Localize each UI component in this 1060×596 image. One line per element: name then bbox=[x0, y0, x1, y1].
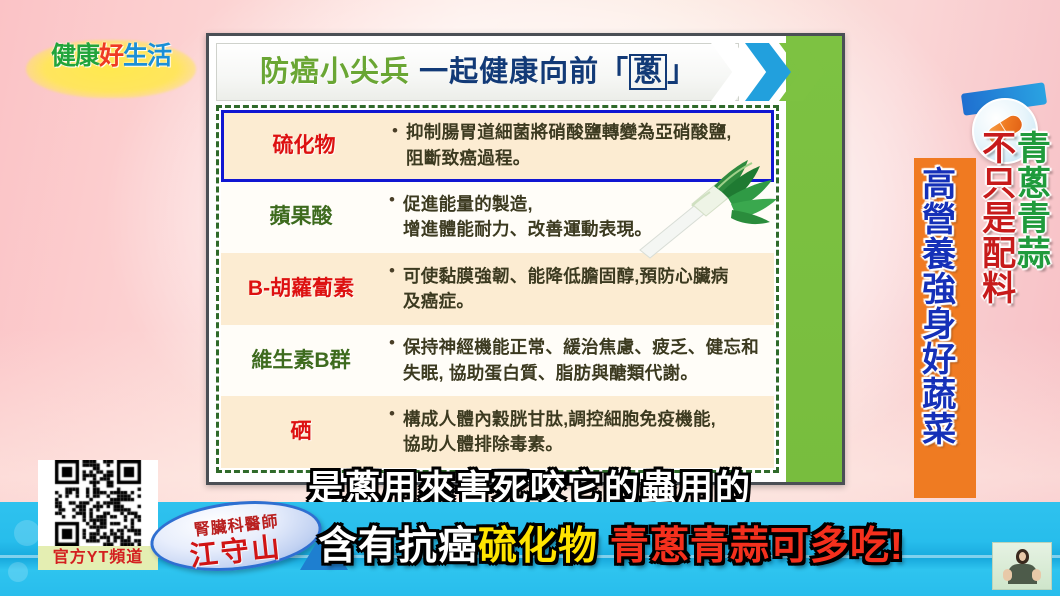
nutrient-row: 硒•構成人體內穀胱甘肽,調控細胞免疫機能,協助人體排除毒素。 bbox=[221, 396, 774, 468]
slide-green-band bbox=[786, 36, 842, 482]
bullet-icon: • bbox=[381, 396, 403, 424]
slide-title-green: 防癌小尖兵 bbox=[260, 56, 410, 88]
caption-right-green: 青蔥青蒜 bbox=[1013, 130, 1048, 305]
nutrient-description: 構成人體內穀胱甘肽,調控細胞免疫機能,協助人體排除毒素。 bbox=[403, 407, 774, 458]
right-vertical-captions: 高營養強身好蔬菜 青蔥青蒜 不只是配料 bbox=[904, 96, 1054, 496]
nutrient-name: 蘋果酸 bbox=[221, 205, 381, 229]
nutrient-name: 硫化物 bbox=[224, 134, 384, 158]
logo-text-part1: 健康 bbox=[51, 42, 99, 70]
slide-title-blue-suffix: 」 bbox=[667, 56, 697, 88]
nutrient-table: 硫化物•抑制腸胃道細菌將硝酸鹽轉變為亞硝酸鹽,阻斷致癌過程。蘋果酸•促進能量的製… bbox=[216, 105, 779, 473]
bullet-icon: • bbox=[381, 325, 403, 353]
nutrient-row: 蘋果酸•促進能量的製造,增進體能耐力、改善運動表現。 bbox=[221, 182, 774, 254]
interpreter-arm-right bbox=[1032, 569, 1041, 581]
channel-logo: 健康好生活 bbox=[22, 34, 200, 106]
bubble-decor bbox=[8, 562, 28, 582]
logo-text: 健康好生活 bbox=[22, 44, 200, 69]
nutrient-name: 維生素B群 bbox=[221, 349, 381, 373]
interpreter-face bbox=[1019, 552, 1026, 561]
nutrient-row: 維生素B群•保持神經機能正常、緩治焦慮、疲乏、健忘和失眠, 協助蛋白質、脂肪與醣… bbox=[221, 325, 774, 397]
logo-text-part2: 好 bbox=[99, 42, 123, 70]
bullet-icon: • bbox=[384, 113, 406, 141]
speaker-name-tag: 腎臟科醫師 江守山 bbox=[150, 502, 322, 570]
nutrient-row: 硫化物•抑制腸胃道細菌將硝酸鹽轉變為亞硝酸鹽,阻斷致癌過程。 bbox=[221, 110, 774, 182]
bottom-headline: 含有抗癌硫化物 青蔥青蒜可多吃! bbox=[318, 527, 904, 566]
nutrient-name: B-胡蘿蔔素 bbox=[221, 277, 381, 301]
bullet-icon: • bbox=[381, 182, 403, 210]
qr-code-block[interactable]: 官方YT頻道 bbox=[38, 460, 158, 572]
nutrient-name: 硒 bbox=[221, 420, 381, 444]
sign-language-interpreter-pip bbox=[992, 542, 1052, 590]
caption-right-red: 不只是配料 bbox=[978, 130, 1013, 305]
nutrient-description: 抑制腸胃道細菌將硝酸鹽轉變為亞硝酸鹽,阻斷致癌過程。 bbox=[406, 120, 771, 171]
nutrient-description: 保持神經機能正常、緩治焦慮、疲乏、健忘和失眠, 協助蛋白質、脂肪與醣類代謝。 bbox=[403, 335, 774, 386]
bullet-icon: • bbox=[381, 253, 403, 281]
nutrient-row: B-胡蘿蔔素•可使黏膜強韌、能降低膽固醇,預防心臟病及癌症。 bbox=[221, 253, 774, 325]
headline-part-white: 含有抗癌 bbox=[318, 525, 478, 568]
bubble-decor bbox=[14, 520, 40, 546]
slide-title-bar: 防癌小尖兵 一起健康向前「蔥」 bbox=[216, 43, 835, 101]
nutrient-description: 促進能量的製造,增進體能耐力、改善運動表現。 bbox=[403, 192, 774, 243]
interpreter-arm-left bbox=[1003, 569, 1012, 581]
caption-right-vertical: 青蔥青蒜 不只是配料 bbox=[978, 130, 1047, 305]
logo-text-part3: 生活 bbox=[123, 42, 171, 70]
caption-left-vertical: 高營養強身好蔬菜 bbox=[918, 166, 953, 446]
slide-title-text: 防癌小尖兵 一起健康向前「蔥」 bbox=[260, 52, 697, 92]
nutrient-description: 可使黏膜強韌、能降低膽固醇,預防心臟病及癌症。 bbox=[403, 264, 774, 315]
slide-title-boxed-word: 蔥 bbox=[629, 54, 667, 90]
headline-part-red: 青蔥青蒜可多吃! bbox=[610, 525, 904, 568]
nutrient-table-body: 硫化物•抑制腸胃道細菌將硝酸鹽轉變為亞硝酸鹽,阻斷致癌過程。蘋果酸•促進能量的製… bbox=[221, 110, 774, 468]
qr-code-label: 官方YT頻道 bbox=[38, 546, 158, 570]
slide-title-blue-prefix: 一起健康向前「 bbox=[419, 56, 629, 88]
headline-part-yellow: 硫化物 bbox=[478, 525, 598, 568]
presentation-slide: 防癌小尖兵 一起健康向前「蔥」 硫化物•抑制腸胃道細菌將硝酸鹽轉變為亞硝酸鹽,阻… bbox=[206, 33, 845, 485]
qr-code-icon[interactable] bbox=[38, 460, 158, 546]
